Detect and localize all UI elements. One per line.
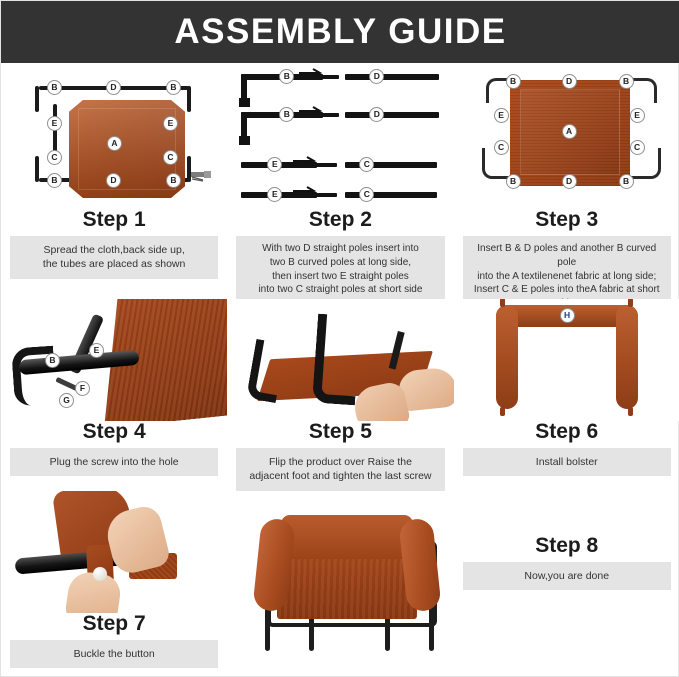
tube-left-lower-corner <box>35 156 39 182</box>
step-7-title: Step 7 <box>1 613 227 634</box>
step-5-illustration <box>227 299 453 421</box>
tube-left-upper-corner <box>35 86 39 112</box>
pole-b-foot <box>239 98 250 107</box>
bolster-right-segment <box>616 305 638 409</box>
bed-seat-fabric <box>277 553 417 619</box>
pole-assembly-ec-2: E C <box>241 192 441 206</box>
bolster-left-segment <box>496 305 518 409</box>
assembled-pet-bed <box>253 501 443 651</box>
part-label-b: B <box>45 353 60 368</box>
screw-icon <box>191 168 213 182</box>
step-3-illustration: B D B E E C C A B D B <box>454 64 679 209</box>
part-label-c: C <box>163 150 178 165</box>
part-label-d: D <box>369 107 384 122</box>
part-label-d: D <box>106 173 121 188</box>
snap-button <box>93 567 107 581</box>
step-panel-4: B E F G Step 4 Plug the screw into the h… <box>1 299 227 491</box>
part-label-d: D <box>562 74 577 89</box>
step-1-caption: Spread the cloth,back side up, the tubes… <box>10 236 218 279</box>
part-label-b: B <box>166 173 181 188</box>
part-label-b: B <box>166 80 181 95</box>
step-panel-8: Step 8 Now,you are done <box>454 491 679 677</box>
part-label-b: B <box>619 174 634 189</box>
step-6-title: Step 6 <box>454 421 679 442</box>
insert-arrow-icon <box>299 64 325 72</box>
page-title: ASSEMBLY GUIDE <box>174 12 506 52</box>
bolster-tab <box>628 407 633 416</box>
step-1-title: Step 1 <box>1 209 227 230</box>
part-label-g: G <box>59 393 74 408</box>
final-product-panel <box>227 491 453 677</box>
insert-arrow-icon <box>293 181 319 190</box>
step-panel-5: Step 5 Flip the product over Raise the a… <box>227 299 453 491</box>
step-panel-6: H Step 6 Install bolster <box>454 299 679 491</box>
step-8-spacer <box>454 491 679 535</box>
step-5-caption: Flip the product over Raise the adjacent… <box>236 448 444 491</box>
part-label-e: E <box>47 116 62 131</box>
step-1-illustration: B D B E E C C A B D B <box>1 64 227 209</box>
part-label-e: E <box>494 108 509 123</box>
pole-assembly-ec-1: E C <box>241 162 441 176</box>
step-6-caption: Install bolster <box>463 448 671 476</box>
step-2-title: Step 2 <box>227 209 453 230</box>
step-2-illustration: B D B D <box>227 64 453 209</box>
bed-leg <box>265 605 270 651</box>
pole-d-shaft <box>345 112 439 118</box>
bolster-assembly: H <box>496 305 638 409</box>
part-label-b: B <box>47 173 62 188</box>
frame-leg-raised <box>312 314 361 406</box>
assembled-frame-diagram: B D B E E C C A B D B <box>480 74 660 192</box>
part-label-b: B <box>619 74 634 89</box>
part-label-b: B <box>279 107 294 122</box>
part-label-c: C <box>359 187 374 202</box>
pole-assembly-bd-2: B D <box>241 112 441 126</box>
step-8-caption: Now,you are done <box>463 562 671 590</box>
part-label-b: B <box>279 69 294 84</box>
part-label-e: E <box>163 116 178 131</box>
step-4-title: Step 4 <box>1 421 227 442</box>
part-label-c: C <box>494 140 509 155</box>
header-bar: ASSEMBLY GUIDE <box>1 1 679 63</box>
step-panel-1: B D B E E C C A B D B <box>1 64 227 299</box>
step-5-title: Step 5 <box>227 421 453 442</box>
part-label-c: C <box>630 140 645 155</box>
part-label-b: B <box>506 74 521 89</box>
tube-right-upper-corner <box>187 86 191 112</box>
bolster-tab <box>500 299 505 307</box>
part-label-h: H <box>560 308 575 323</box>
final-product-illustration <box>227 491 453 677</box>
step-panel-3: B D B E E C C A B D B Step 3 Insert B & … <box>454 64 679 299</box>
part-label-f: F <box>75 381 90 396</box>
step-2-caption: With two D straight poles insert into tw… <box>236 236 444 303</box>
step-4-caption: Plug the screw into the hole <box>10 448 218 476</box>
bed-leg <box>429 605 434 651</box>
part-label-d: D <box>562 174 577 189</box>
step-7-illustration <box>1 491 227 613</box>
bolster-tab <box>628 299 633 307</box>
part-label-d: D <box>369 69 384 84</box>
bolster-tab <box>500 407 505 416</box>
pole-b-foot <box>239 136 250 145</box>
tube-frame-diagram: B D B E E C C A B D B <box>25 78 201 190</box>
step-panel-2: B D B D <box>227 64 453 299</box>
part-label-b: B <box>47 80 62 95</box>
step-3-title: Step 3 <box>454 209 679 230</box>
step-7-caption: Buckle the button <box>10 640 218 668</box>
part-label-b: B <box>506 174 521 189</box>
pole-assembly-bd-1: B D <box>241 74 441 88</box>
part-label-e: E <box>267 187 282 202</box>
part-label-a: A <box>107 136 122 151</box>
assembly-guide-page: ASSEMBLY GUIDE <box>0 0 679 677</box>
steps-row-1: B D B E E C C A B D B <box>1 64 679 299</box>
step-panel-7: Step 7 Buckle the button <box>1 491 227 677</box>
step-8-title: Step 8 <box>454 535 679 556</box>
part-label-e: E <box>267 157 282 172</box>
steps-row-3: Step 7 Buckle the button <box>1 491 679 677</box>
part-label-c: C <box>47 150 62 165</box>
part-label-c: C <box>359 157 374 172</box>
part-label-e: E <box>89 343 104 358</box>
insert-arrow-icon <box>299 101 325 110</box>
insert-arrow-icon <box>293 151 319 160</box>
part-label-e: E <box>630 108 645 123</box>
steps-row-2: B E F G Step 4 Plug the screw into the h… <box>1 299 679 491</box>
steps-grid: B D B E E C C A B D B <box>1 64 679 677</box>
step-6-illustration: H <box>454 299 679 421</box>
part-label-d: D <box>106 80 121 95</box>
pole-d-shaft <box>345 74 439 80</box>
step-4-illustration: B E F G <box>1 299 227 421</box>
part-label-a: A <box>562 124 577 139</box>
bed-backrest <box>281 515 413 559</box>
